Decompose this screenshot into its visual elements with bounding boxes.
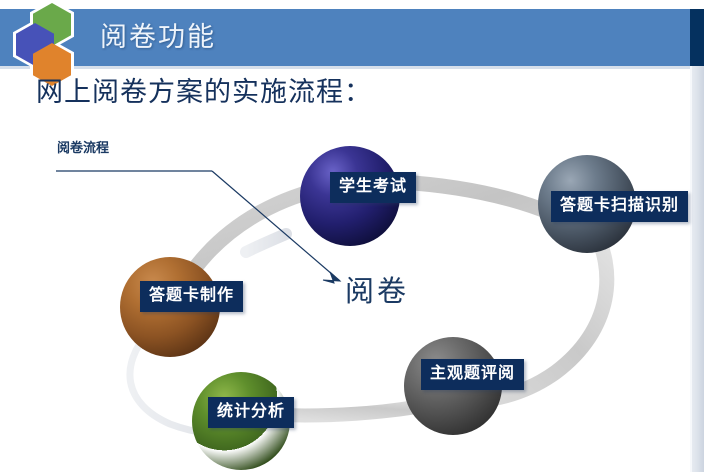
node-label-statistical-analysis: 统计分析 [208,397,294,428]
node-label-answer-sheet-scan: 答题卡扫描识别 [551,191,688,222]
node-label-student-exam: 学生考试 [330,172,416,203]
callout-label: 阅卷流程 [57,139,109,157]
slide-canvas: 阅卷功能 网上阅卷方案的实施流程： [0,0,704,472]
node-label-answer-sheet-make: 答题卡制作 [140,281,243,312]
node-label-subjective-grading: 主观题评阅 [421,359,524,390]
center-word-grading: 阅卷 [345,273,409,311]
